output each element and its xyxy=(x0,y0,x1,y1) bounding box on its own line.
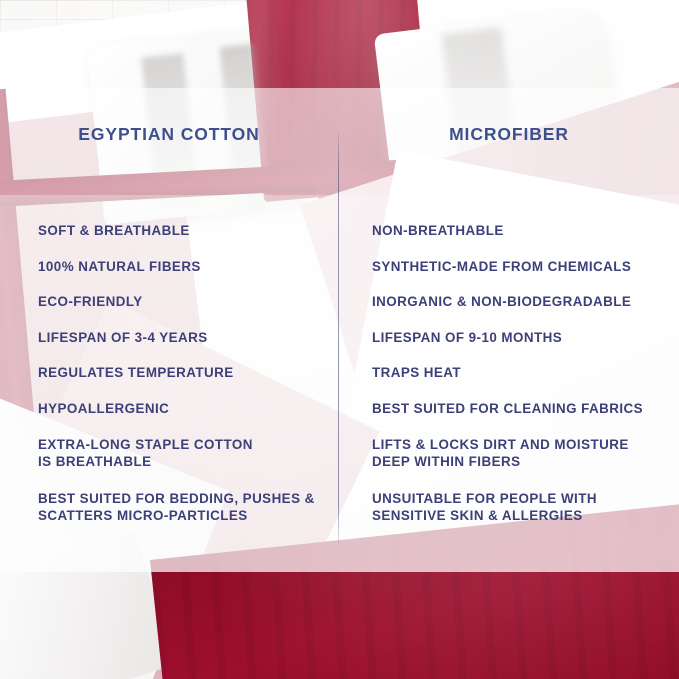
column-heading-microfiber: MICROFIBER xyxy=(339,120,679,144)
column-egyptian-cotton: EGYPTIAN COTTON SOFT & BREATHABLE 100% N… xyxy=(0,120,338,144)
feature-item: REGULATES TEMPERATURE xyxy=(38,364,328,381)
comparison-content: EGYPTIAN COTTON SOFT & BREATHABLE 100% N… xyxy=(0,0,679,679)
column-microfiber: MICROFIBER NON-BREATHABLE SYNTHETIC-MADE… xyxy=(339,120,679,144)
feature-list-egyptian-cotton: SOFT & BREATHABLE 100% NATURAL FIBERS EC… xyxy=(38,222,328,544)
feature-item: INORGANIC & NON-BIODEGRADABLE xyxy=(372,293,677,310)
feature-item: HYPOALLERGENIC xyxy=(38,400,328,417)
feature-item: SOFT & BREATHABLE xyxy=(38,222,328,239)
feature-item: BEST SUITED FOR BEDDING, PUSHES & SCATTE… xyxy=(38,490,328,524)
feature-item: LIFESPAN OF 3-4 YEARS xyxy=(38,329,328,346)
feature-item: BEST SUITED FOR CLEANING FABRICS xyxy=(372,400,677,417)
feature-item: LIFTS & LOCKS DIRT AND MOISTURE DEEP WIT… xyxy=(372,436,677,470)
feature-item: UNSUITABLE FOR PEOPLE WITH SENSITIVE SKI… xyxy=(372,490,677,524)
feature-item: SYNTHETIC-MADE FROM CHEMICALS xyxy=(372,258,677,275)
column-divider xyxy=(338,131,339,545)
feature-list-microfiber: NON-BREATHABLE SYNTHETIC-MADE FROM CHEMI… xyxy=(372,222,677,544)
feature-item: 100% NATURAL FIBERS xyxy=(38,258,328,275)
feature-item: EXTRA-LONG STAPLE COTTON IS BREATHABLE xyxy=(38,436,328,470)
column-heading-egyptian-cotton: EGYPTIAN COTTON xyxy=(0,120,338,144)
feature-item: TRAPS HEAT xyxy=(372,364,677,381)
feature-item: NON-BREATHABLE xyxy=(372,222,677,239)
feature-item: LIFESPAN OF 9-10 MONTHS xyxy=(372,329,677,346)
feature-item: ECO-FRIENDLY xyxy=(38,293,328,310)
comparison-infographic: Times EGYPTIAN COTTON SOFT & BREATHABL xyxy=(0,0,679,679)
